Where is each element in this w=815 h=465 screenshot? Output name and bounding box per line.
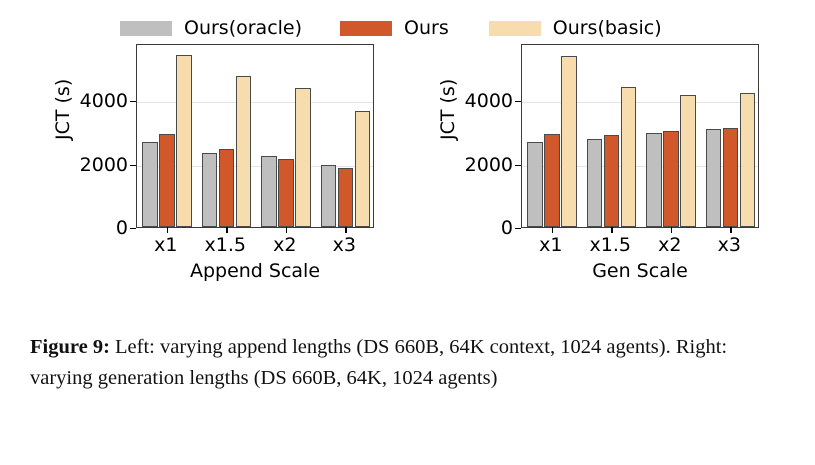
y-tick-label: 2000 [80, 154, 128, 176]
x-tick-mark [286, 227, 287, 233]
figure-9: Ours(oracle) Ours Ours(basic) JCT (s) 02… [0, 0, 815, 465]
y-tick-label: 4000 [465, 90, 513, 112]
y-tick-label: 4000 [80, 90, 128, 112]
legend-label-ours: Ours [404, 17, 449, 39]
x-tick-mark [730, 227, 731, 233]
bar-oursbasic-x2 [295, 88, 311, 227]
y-axis-label-right: JCT (s) [437, 79, 459, 140]
y-tick-label: 0 [501, 217, 513, 239]
y-tick-mark [130, 228, 136, 229]
legend-entry-ours-basic: Ours(basic) [489, 17, 662, 39]
x-tick-mark [167, 227, 168, 233]
x-tick-mark [226, 227, 227, 233]
bar-oursoracle-x1.5 [202, 153, 218, 227]
x-tick-label: x2 [273, 234, 296, 256]
bar-oursoracle-x3 [321, 165, 337, 227]
bar-ours-x3 [723, 128, 739, 227]
figure-caption-text: Left: varying append lengths (DS 660B, 6… [30, 336, 727, 389]
bar-oursbasic-x1.5 [621, 87, 637, 227]
y-axis-label-left: JCT (s) [52, 79, 74, 140]
x-tick-label: x1.5 [590, 234, 631, 256]
append-scale-plot-area [136, 44, 374, 228]
bar-oursoracle-x3 [706, 129, 722, 227]
x-tick-label: x1.5 [205, 234, 246, 256]
chart-legend: Ours(oracle) Ours Ours(basic) [120, 12, 720, 44]
x-axis-label-right: Gen Scale [521, 260, 759, 282]
x-axis-label-left: Append Scale [136, 260, 374, 282]
y-tick-mark [515, 228, 521, 229]
y-axis-ticks-left: 020004000 [80, 44, 136, 234]
x-axis-ticks-left: x1x1.5x2x3 [136, 234, 374, 260]
bar-ours-x3 [338, 168, 354, 227]
bar-oursbasic-x2 [680, 95, 696, 227]
figure-caption-label: Figure 9: [30, 336, 110, 358]
bar-ours-x1 [159, 134, 175, 227]
bar-oursoracle-x1 [527, 142, 543, 227]
legend-entry-ours-oracle: Ours(oracle) [120, 17, 302, 39]
legend-label-ours-basic: Ours(basic) [553, 17, 662, 39]
x-tick-label: x3 [333, 234, 356, 256]
x-tick-label: x2 [658, 234, 681, 256]
y-tick-label: 2000 [465, 154, 513, 176]
x-axis-ticks-right: x1x1.5x2x3 [521, 234, 759, 260]
bar-oursoracle-x1.5 [587, 139, 603, 228]
bar-oursoracle-x1 [142, 142, 158, 227]
bar-ours-x2 [663, 131, 679, 227]
legend-swatch-ours-basic [489, 21, 541, 36]
x-tick-label: x1 [154, 234, 177, 256]
bar-oursbasic-x3 [740, 93, 756, 227]
x-tick-mark [345, 227, 346, 233]
x-tick-label: x1 [539, 234, 562, 256]
bar-oursbasic-x1.5 [236, 76, 252, 227]
bar-ours-x1.5 [604, 135, 620, 227]
legend-entry-ours: Ours [340, 17, 449, 39]
bar-ours-x1 [544, 134, 560, 227]
x-tick-mark [671, 227, 672, 233]
bar-oursbasic-x1 [176, 55, 192, 227]
bar-oursbasic-x3 [355, 111, 371, 227]
bar-ours-x2 [278, 159, 294, 227]
legend-swatch-ours-oracle [120, 21, 172, 36]
bar-ours-x1.5 [219, 149, 235, 227]
x-tick-mark [611, 227, 612, 233]
bar-oursoracle-x2 [646, 133, 662, 227]
x-tick-mark [552, 227, 553, 233]
y-axis-ticks-right: 020004000 [465, 44, 521, 234]
bar-oursoracle-x2 [261, 156, 277, 227]
legend-swatch-ours [340, 21, 392, 36]
gen-scale-plot-area [521, 44, 759, 228]
x-tick-label: x3 [718, 234, 741, 256]
gridline [522, 102, 758, 103]
gridline [137, 102, 373, 103]
y-tick-label: 0 [116, 217, 128, 239]
legend-label-ours-oracle: Ours(oracle) [184, 17, 302, 39]
bar-oursbasic-x1 [561, 56, 577, 227]
figure-caption: Figure 9: Left: varying append lengths (… [30, 332, 790, 394]
